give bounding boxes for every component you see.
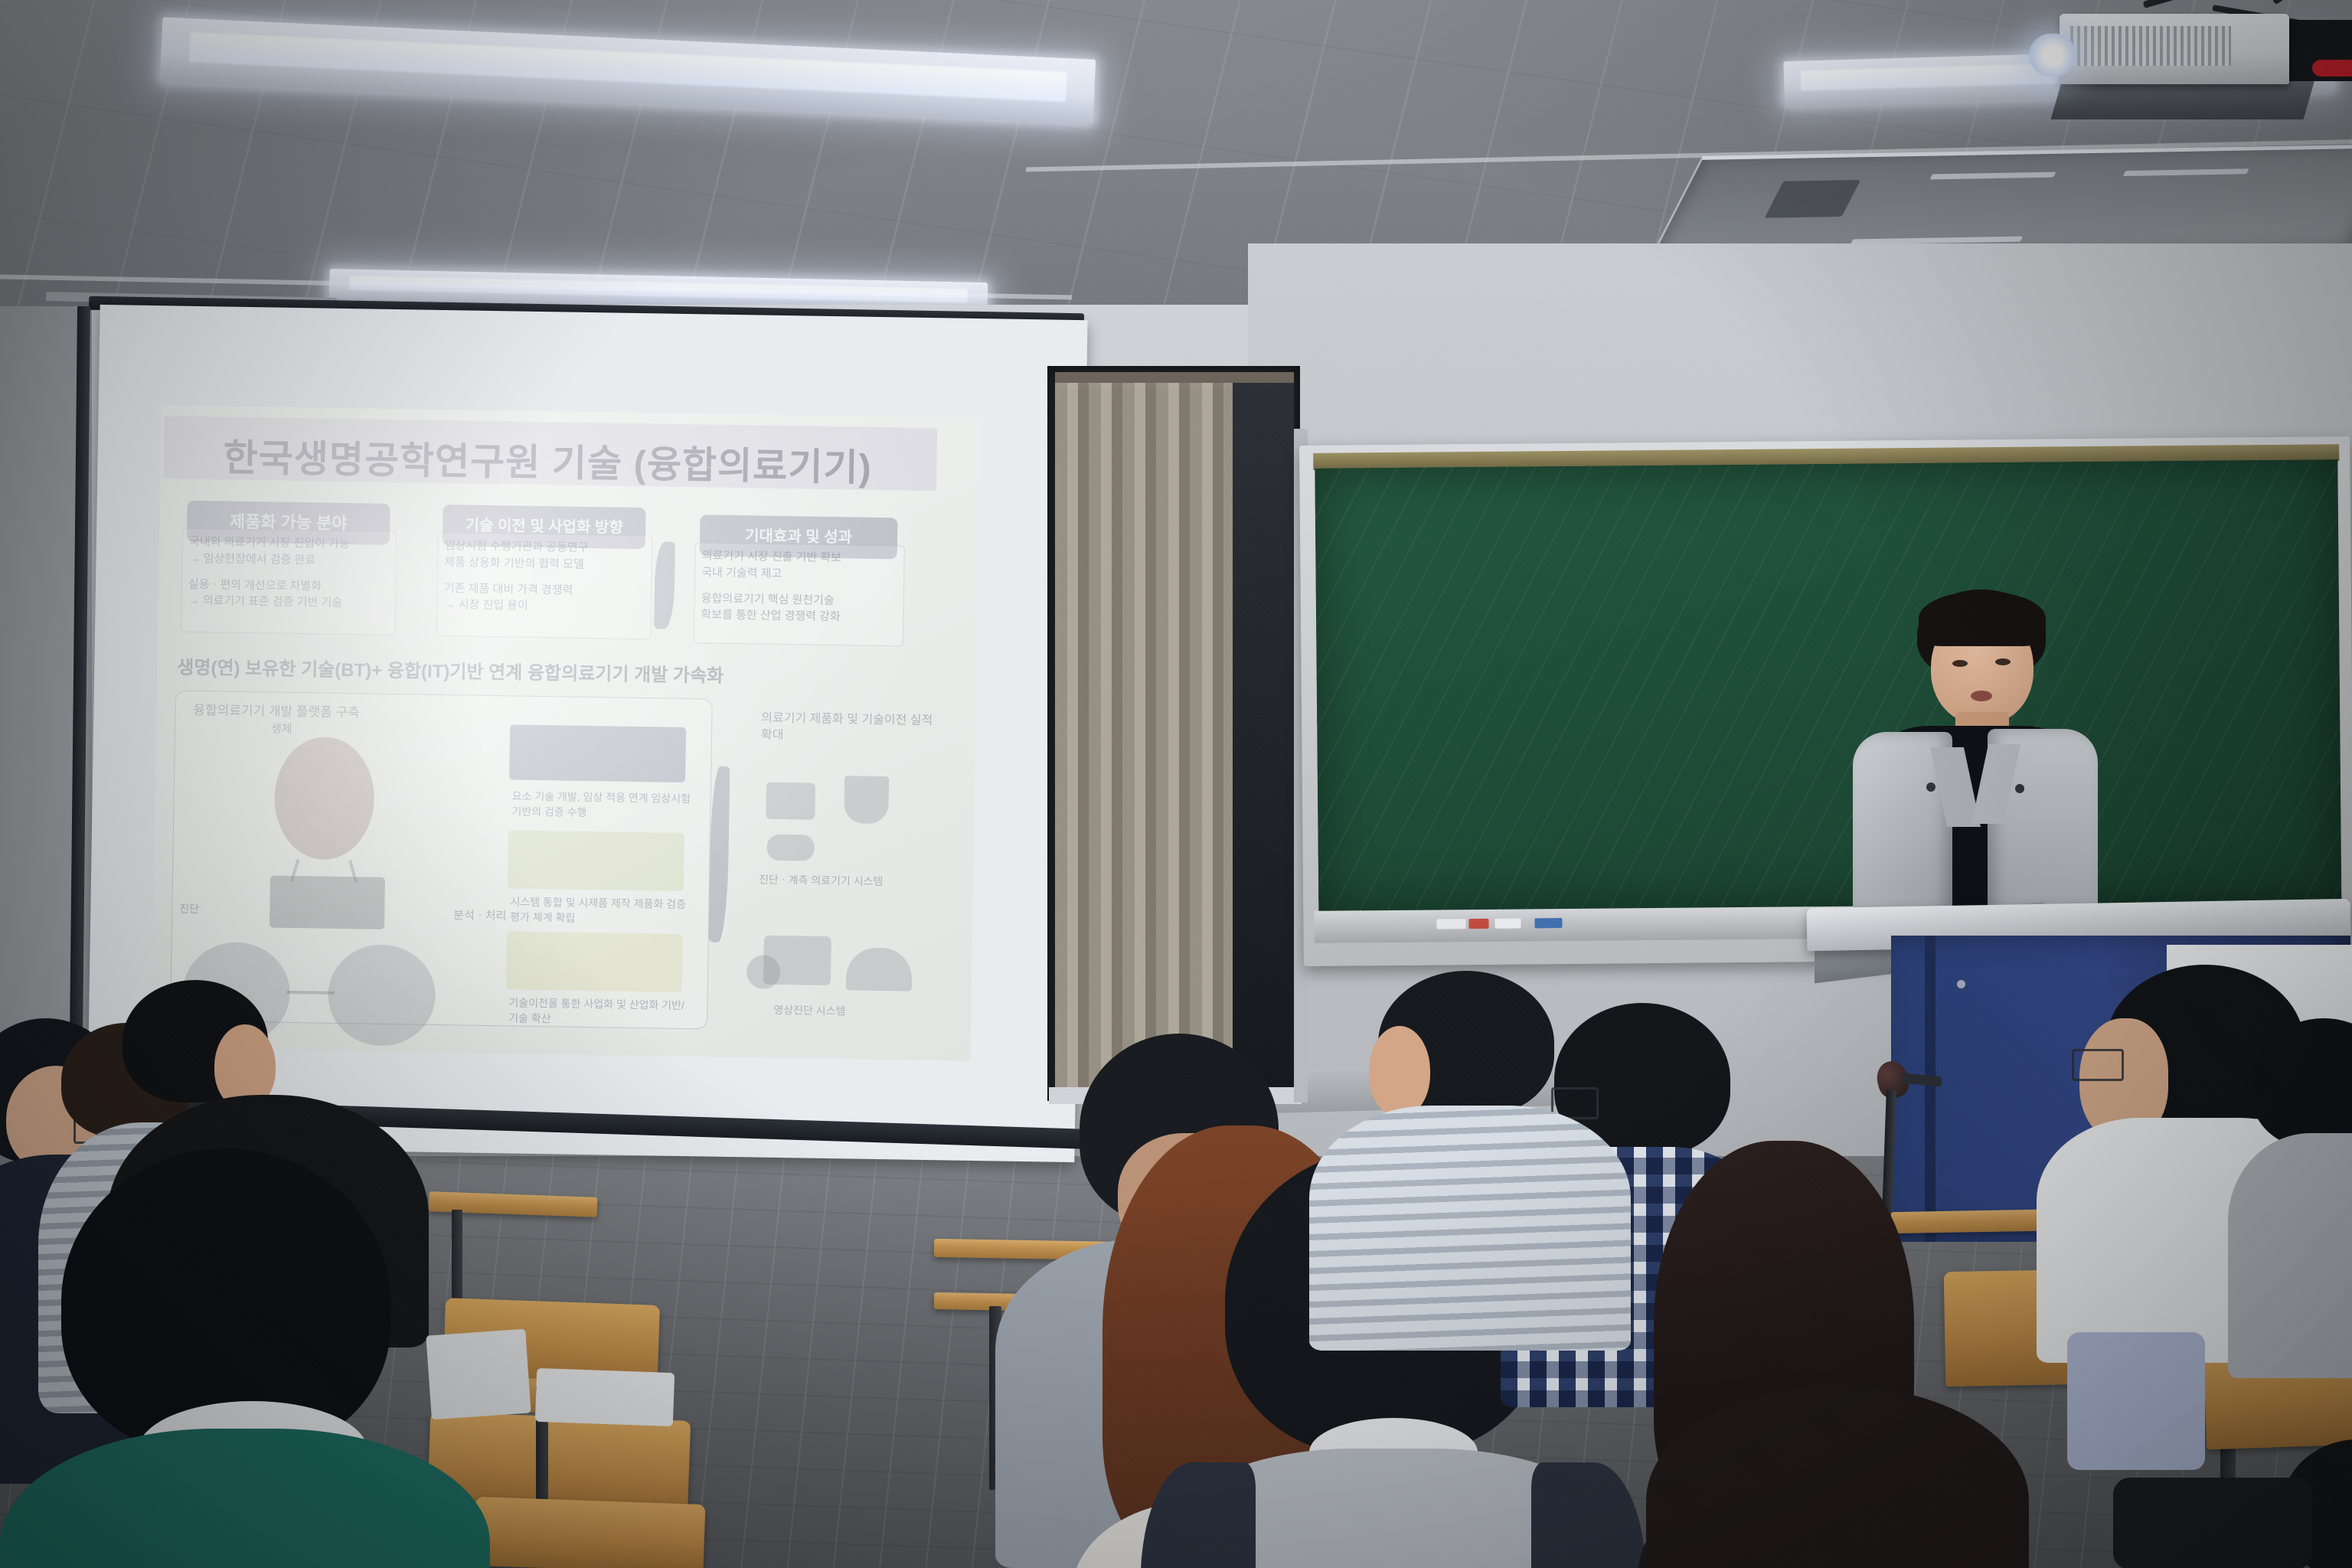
- projected-slide: 한국생명공학연구원 기술 (융합의료기기) 제품화 가능 분야 국내외 의료기기…: [151, 405, 980, 1061]
- slide-node-label-2: 진단: [179, 902, 199, 917]
- chalkboard-dust: [1315, 459, 2341, 913]
- slide-thumbnail-2: [766, 835, 815, 861]
- podium-screw: [1957, 980, 1965, 988]
- slide-bullet: 제품 상용화 기반의 협력 모델: [444, 554, 645, 574]
- projector-mount-plate: [2051, 80, 2315, 119]
- presenter-button: [1926, 782, 1935, 792]
- head-skin: [1369, 1026, 1430, 1116]
- projector-indicator-light: [2312, 60, 2352, 77]
- slide-right-caption: 의료기기 제품화 및 기술이전 실적 확대: [761, 710, 938, 747]
- presenter-eye-right: [1995, 658, 2011, 665]
- glasses-icon: [2072, 1049, 2124, 1081]
- slide-bullet: 국내 기술력 제고: [701, 564, 897, 584]
- slide-thumbnail-caption-1: 진단ㆍ계측 의료기기 시스템: [759, 873, 942, 890]
- panel-strip: [2123, 168, 2249, 176]
- podium-edge: [1925, 936, 1935, 1242]
- slide-bullet: → 시장 진입 용이: [443, 596, 644, 616]
- slide-step-caption-2: 시스템 통합 및 시제품 제작 제품화 검증 평가 체계 확립: [510, 894, 693, 927]
- trousers: [2067, 1332, 2205, 1470]
- slide-thumbnail-6: [846, 947, 913, 991]
- slide-bullet: → 의료기기 표준 검증 기반 기술: [188, 593, 388, 612]
- slide-step-box-green: [508, 830, 684, 891]
- slide-title: 한국생명공학연구원 기술 (융합의료기기): [223, 427, 872, 492]
- slide-thumbnail-caption-2: 영상진단 시스템: [773, 1003, 942, 1021]
- slide-arrow-icon: [654, 541, 675, 629]
- slide-node-rect: [269, 876, 385, 929]
- projector-lens-icon: [2029, 34, 2076, 77]
- ceiling-projector: [2060, 3, 2352, 133]
- slide-body-box-1: 국내외 의료기기 시장 진입이 가능 → 임상현장에서 검증 완료 실용ㆍ편의 …: [181, 528, 397, 635]
- window-gap: [1233, 383, 1294, 1095]
- slide-step-caption-3: 기술이전을 통한 사업화 및 산업화 기반/기술 확산: [508, 995, 691, 1028]
- slide-node-label-3: 분석ㆍ처리: [453, 907, 506, 924]
- slide-step-box-green2: [506, 931, 683, 992]
- projector-vent-grille: [2070, 26, 2231, 66]
- chalk-blue[interactable]: [1534, 918, 1562, 928]
- chair-back-front[interactable]: [474, 1497, 706, 1568]
- panel-strip: [1930, 172, 2056, 180]
- paper-bag-on-desk[interactable]: [426, 1329, 531, 1420]
- slide-bullet: 확보를 통한 산업 경쟁력 강화: [701, 607, 897, 627]
- presenter-hair-front: [1919, 591, 2046, 646]
- chalk-white[interactable]: [1494, 918, 1521, 928]
- torso: [2228, 1133, 2352, 1378]
- torso: [1309, 1106, 1631, 1351]
- fluorescent-tube: [349, 276, 969, 302]
- chalk-red[interactable]: [1468, 919, 1488, 929]
- slide-node-circle-3: [328, 944, 436, 1047]
- slide-body-box-3: 의료기기 시장 진출 기반 확보 국내 기술력 제고 융합의료기기 핵심 원천기…: [694, 542, 905, 646]
- slide-body-box-2: 임상시험 수행기관과 공동연구 제품 상용화 기반의 협력 모델 기존 제품 대…: [436, 532, 652, 639]
- slide-node-label-1: 생체: [271, 721, 292, 737]
- ceiling-vent: [1765, 180, 1861, 218]
- backpack[interactable]: [2113, 1478, 2312, 1568]
- presenter-mouth: [1971, 691, 1992, 701]
- window-curtain[interactable]: [1055, 383, 1236, 1095]
- slide-step-box-purple: [509, 724, 686, 782]
- presenter: [1853, 590, 2098, 926]
- slide-bullet: → 임상현장에서 검증 완료: [188, 550, 389, 570]
- slide-thumbnail-3: [844, 776, 889, 824]
- presenter-button: [2015, 784, 2024, 793]
- slide-thumbnail-1: [766, 782, 815, 820]
- chalk-white[interactable]: [1436, 919, 1465, 929]
- chalkboard-frame: [1299, 436, 2352, 966]
- slide-diagram-left-caption: 융합의료기기 개발 플랫폼 구축: [193, 701, 360, 722]
- projector-body: [2060, 14, 2289, 84]
- presenter-eye-left: [1952, 660, 1968, 667]
- chalkboard-surface[interactable]: [1315, 459, 2341, 913]
- slide-step-caption-1: 요소 기술 개발, 임상 적용 연계 임상시험 기반의 검증 수행: [511, 789, 694, 822]
- slide-right-arrow-icon: [709, 766, 730, 942]
- papers-on-desk[interactable]: [535, 1368, 675, 1426]
- lecture-hall-photo: 한국생명공학연구원 기술 (융합의료기기) 제품화 가능 분야 국내외 의료기기…: [0, 0, 2352, 1568]
- slide-section-title: 생명(연) 보유한 기술(BT)+ 융합(IT)기반 연계 융합의료기기 개발 …: [177, 652, 724, 688]
